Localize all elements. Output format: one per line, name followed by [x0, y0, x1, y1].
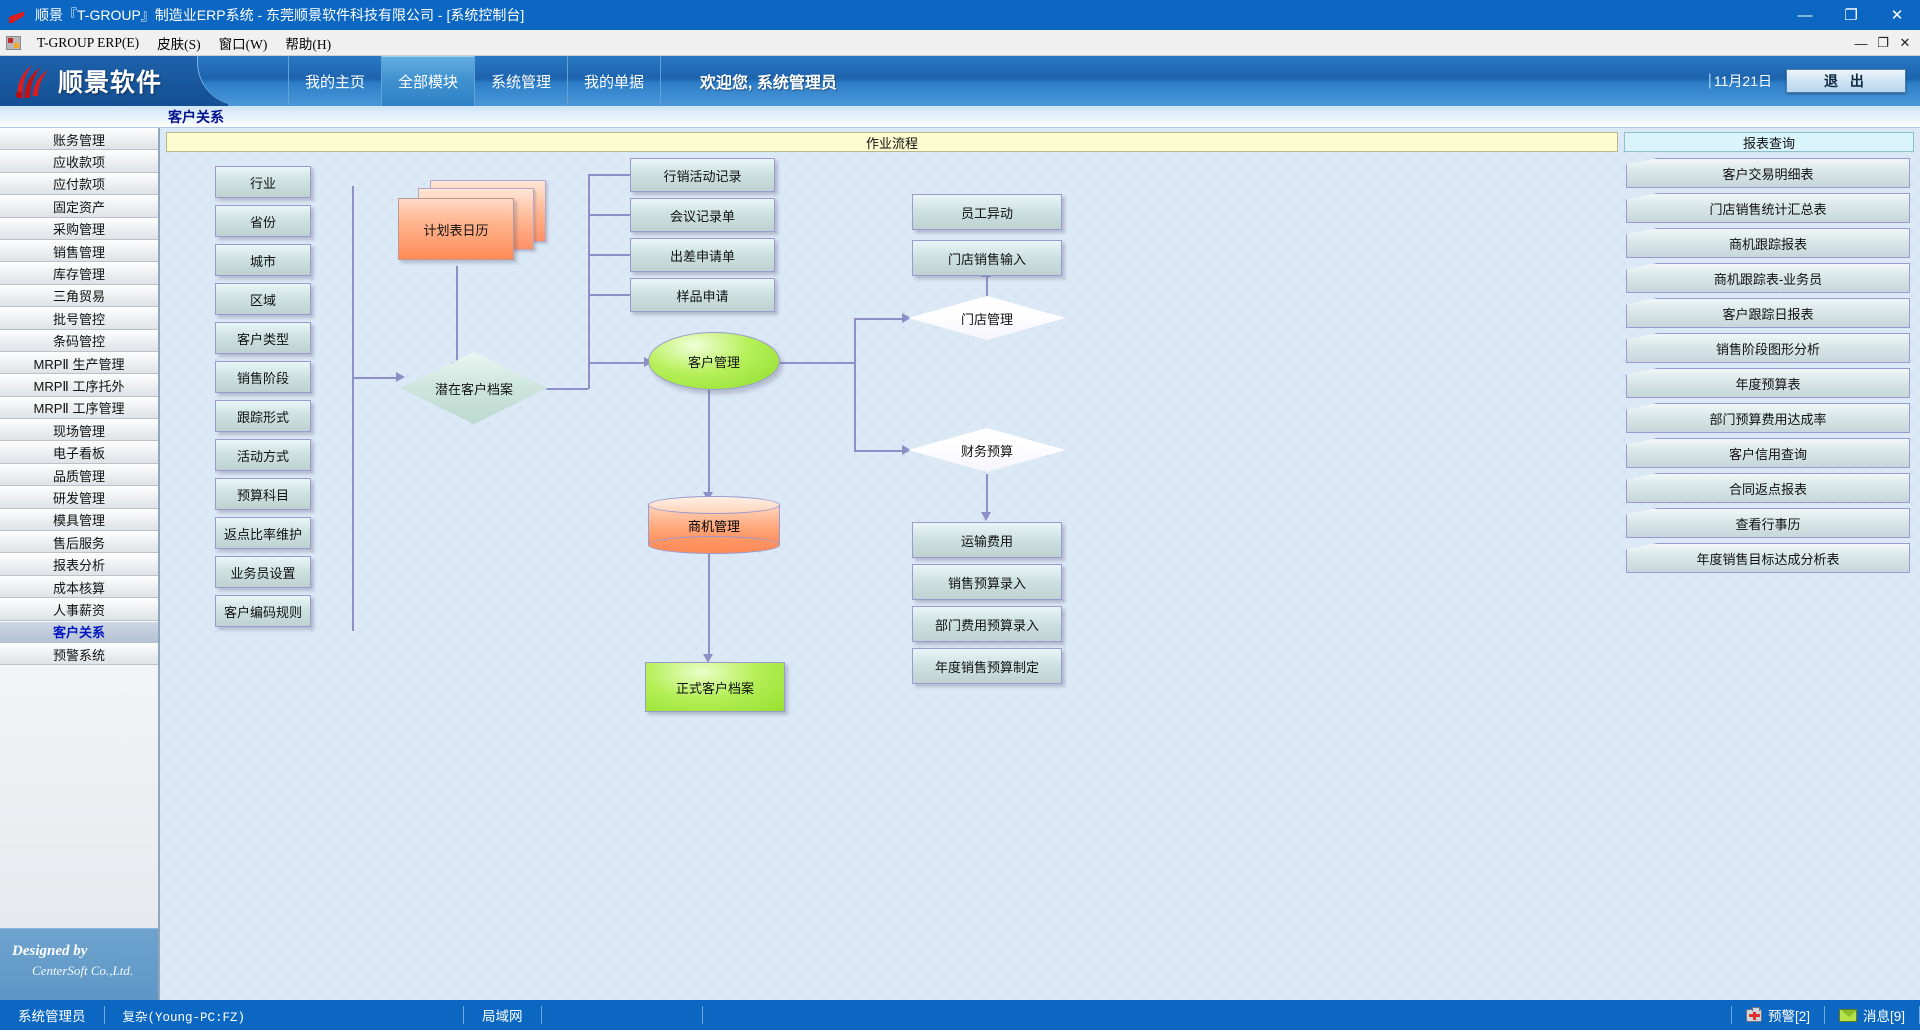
- sidebar-item-21[interactable]: 人事薪资: [0, 598, 158, 620]
- sidebar-item-19[interactable]: 报表分析: [0, 553, 158, 575]
- flow-node-meeting-record[interactable]: 会议记录单: [630, 198, 775, 232]
- flow-node-province[interactable]: 省份: [215, 205, 311, 237]
- flow-node-dept-expense-budget-entry[interactable]: 部门费用预算录入: [912, 606, 1062, 642]
- report-button-wrap-3: 商机跟踪表-业务员: [1626, 263, 1910, 293]
- tab-system-management[interactable]: 系统管理: [475, 56, 568, 106]
- company-label: CenterSoft Co.,Ltd.: [32, 963, 158, 979]
- brand-name: 顺景软件: [58, 63, 162, 99]
- sidebar-item-5[interactable]: 销售管理: [0, 240, 158, 262]
- flow-node-city[interactable]: 城市: [215, 244, 311, 276]
- page-title: 客户关系: [168, 107, 224, 127]
- flow-node-region[interactable]: 区域: [215, 283, 311, 315]
- sidebar-item-10[interactable]: MRPⅡ 生产管理: [0, 352, 158, 374]
- sidebar-item-6[interactable]: 库存管理: [0, 262, 158, 284]
- report-button-wrap-2: 商机跟踪报表: [1626, 228, 1910, 258]
- status-machine: 复杂(Young-PC:FZ): [105, 1006, 264, 1025]
- brand-swoosh-icon: [12, 62, 52, 100]
- status-divider-3: [541, 1006, 542, 1024]
- status-right-group: 预警[2] 消息[9]: [1731, 1005, 1920, 1025]
- potential-customer-label: 潜在客户档案: [400, 352, 548, 424]
- report-button-3[interactable]: 商机跟踪表-业务员: [1626, 263, 1910, 293]
- application-menu-bar: T-GROUP ERP(E) 皮肤(S) 窗口(W) 帮助(H) — ❐ ✕: [0, 30, 1920, 56]
- flow-node-business-trip-request[interactable]: 出差申请单: [630, 238, 775, 272]
- connector-potential-up: [588, 362, 590, 389]
- message-badge[interactable]: 消息[9]: [1825, 1005, 1919, 1025]
- tab-my-homepage[interactable]: 我的主页: [288, 56, 382, 106]
- flow-node-schedule-calendar[interactable]: 计划表日历: [398, 180, 546, 266]
- banner-report-query: 报表查询: [1624, 132, 1914, 152]
- flow-node-marketing-activity[interactable]: 行销活动记录: [630, 158, 775, 192]
- connector-customer-down: [708, 388, 710, 496]
- flow-node-sample-request[interactable]: 样品申请: [630, 278, 775, 312]
- flow-node-store-sales-input[interactable]: 门店销售输入: [912, 240, 1062, 276]
- finance-budget-label: 财务预算: [908, 428, 1066, 472]
- connector-to-customer: [588, 362, 648, 364]
- header-right-group: | 11月21日 退 出: [1708, 56, 1906, 106]
- menu-item-skin[interactable]: 皮肤(S): [148, 30, 210, 56]
- sidebar-list: 账务管理应收款项应付款项固定资产采购管理销售管理库存管理三角贸易批号管控条码管控…: [0, 128, 158, 665]
- tab-my-documents[interactable]: 我的单据: [568, 56, 661, 106]
- app-header: 顺景软件 我的主页 全部模块 系统管理 我的单据 欢迎您, 系统管理员 | 11…: [0, 56, 1920, 106]
- sidebar-item-16[interactable]: 研发管理: [0, 486, 158, 508]
- flow-node-customer-management[interactable]: 客户管理: [648, 332, 780, 390]
- sidebar-item-23[interactable]: 预警系统: [0, 643, 158, 665]
- report-button-4[interactable]: 客户跟踪日报表: [1626, 298, 1910, 328]
- arrow-finance-to-transport: [981, 512, 991, 521]
- sidebar-footer: Designed by CenterSoft Co.,Ltd.: [0, 928, 158, 1000]
- report-button-wrap-1: 门店销售统计汇总表: [1626, 193, 1910, 223]
- sidebar-item-8[interactable]: 批号管控: [0, 307, 158, 329]
- report-button-8[interactable]: 客户信用查询: [1626, 438, 1910, 468]
- flow-diagram: 行业 省份 城市 区域 客户类型 销售阶段 跟踪形式 活动方式 预算科目 返点比…: [160, 156, 1920, 1000]
- flow-node-store-management[interactable]: 门店管理: [908, 296, 1066, 340]
- window-controls: — ❐ ✕: [1782, 0, 1920, 30]
- status-user: 系统管理员: [0, 1005, 104, 1025]
- menu-item-help[interactable]: 帮助(H): [276, 30, 340, 56]
- sidebar-item-2[interactable]: 应付款项: [0, 173, 158, 195]
- report-button-wrap-9: 合同返点报表: [1626, 473, 1910, 503]
- sidebar-item-13[interactable]: 现场管理: [0, 419, 158, 441]
- main-nav-tabs: 我的主页 全部模块 系统管理 我的单据: [288, 56, 661, 106]
- minimize-icon[interactable]: —: [1782, 0, 1828, 30]
- sidebar-item-7[interactable]: 三角贸易: [0, 285, 158, 307]
- window-title: 顺景『T-GROUP』制造业ERP系统 - 东莞顺景软件科技有限公司 - [系统…: [35, 5, 524, 25]
- flow-node-customer-type[interactable]: 客户类型: [215, 322, 311, 354]
- connector-right-bus: [854, 318, 856, 450]
- connector-mid-4: [588, 294, 630, 296]
- sidebar-item-11[interactable]: MRPⅡ 工序托外: [0, 374, 158, 396]
- designed-by-label: Designed by: [12, 943, 158, 960]
- connector-mid-2: [588, 214, 630, 216]
- flow-node-industry[interactable]: 行业: [215, 166, 311, 198]
- report-button-2[interactable]: 商机跟踪报表: [1626, 228, 1910, 258]
- status-divider-4: [702, 1006, 703, 1024]
- report-button-wrap-11: 年度销售目标达成分析表: [1626, 543, 1910, 573]
- connector-to-finance: [854, 450, 906, 452]
- sidebar-item-22[interactable]: 客户关系: [0, 621, 158, 643]
- report-button-7[interactable]: 部门预算费用达成率: [1626, 403, 1910, 433]
- report-button-wrap-7: 部门预算费用达成率: [1626, 403, 1910, 433]
- sidebar-item-4[interactable]: 采购管理: [0, 218, 158, 240]
- app-logo-icon: [7, 5, 27, 25]
- flow-node-annual-sales-budget[interactable]: 年度销售预算制定: [912, 648, 1062, 684]
- flow-node-customer-code-rule[interactable]: 客户编码规则: [215, 595, 311, 627]
- status-network: 局域网: [464, 1005, 541, 1025]
- header-divider: |: [1708, 72, 1712, 90]
- flow-node-sales-budget-entry[interactable]: 销售预算录入: [912, 564, 1062, 600]
- mdi-close-icon[interactable]: ✕: [1894, 35, 1916, 51]
- sidebar-item-14[interactable]: 电子看板: [0, 441, 158, 463]
- connector-mid-3: [588, 254, 630, 256]
- flow-node-employee-change[interactable]: 员工异动: [912, 194, 1062, 230]
- flow-canvas: 作业流程 报表查询: [160, 128, 1920, 1000]
- menu-item-window[interactable]: 窗口(W): [210, 30, 277, 56]
- flow-node-rebate-ratio[interactable]: 返点比率维护: [215, 517, 311, 549]
- report-button-6[interactable]: 年度预算表: [1626, 368, 1910, 398]
- close-icon[interactable]: ✕: [1874, 0, 1920, 30]
- sidebar-item-0[interactable]: 账务管理: [0, 128, 158, 150]
- report-button-0[interactable]: 客户交易明细表: [1626, 158, 1910, 188]
- brand-logo: 顺景软件: [0, 56, 228, 106]
- report-button-wrap-0: 客户交易明细表: [1626, 158, 1910, 188]
- flow-node-formal-customer-archive[interactable]: 正式客户档案: [645, 662, 785, 712]
- connector-opportunity-down: [708, 554, 710, 658]
- module-sidebar: 账务管理应收款项应付款项固定资产采购管理销售管理库存管理三角贸易批号管控条码管控…: [0, 128, 160, 1000]
- sidebar-item-3[interactable]: 固定资产: [0, 195, 158, 217]
- connector-left-bus: [352, 186, 354, 631]
- body-area: 账务管理应收款项应付款项固定资产采购管理销售管理库存管理三角贸易批号管控条码管控…: [0, 128, 1920, 1000]
- connector-to-store: [854, 318, 906, 320]
- connector-calendar-down: [456, 266, 458, 366]
- report-button-wrap-6: 年度预算表: [1626, 368, 1910, 398]
- report-query-panel: 客户交易明细表门店销售统计汇总表商机跟踪报表商机跟踪表-业务员客户跟踪日报表销售…: [1626, 158, 1910, 578]
- report-button-9[interactable]: 合同返点报表: [1626, 473, 1910, 503]
- sidebar-filler: [0, 665, 158, 928]
- flow-node-transport-fee[interactable]: 运输费用: [912, 522, 1062, 558]
- alert-badge[interactable]: 预警[2]: [1732, 1005, 1824, 1025]
- flow-node-budget-subject[interactable]: 预算科目: [215, 478, 311, 510]
- status-bar: 系统管理员 复杂(Young-PC:FZ) 局域网 预警[2] 消息[9]: [0, 1000, 1920, 1030]
- alert-icon: [1746, 1009, 1762, 1022]
- flow-node-activity-type[interactable]: 活动方式: [215, 439, 311, 471]
- sidebar-item-17[interactable]: 模具管理: [0, 509, 158, 531]
- sidebar-item-15[interactable]: 品质管理: [0, 464, 158, 486]
- alert-label: 预警[2]: [1768, 1005, 1810, 1025]
- connector-customer-right: [780, 362, 854, 364]
- report-button-1[interactable]: 门店销售统计汇总表: [1626, 193, 1910, 223]
- welcome-message: 欢迎您, 系统管理员: [700, 56, 837, 106]
- banner-workflow: 作业流程: [166, 132, 1618, 152]
- logout-button[interactable]: 退 出: [1786, 69, 1906, 93]
- mdi-minimize-icon[interactable]: —: [1850, 36, 1872, 51]
- connector-left-to-diamond: [352, 377, 400, 379]
- flow-node-tracking-type[interactable]: 跟踪形式: [215, 400, 311, 432]
- calendar-card-front[interactable]: 计划表日历: [398, 198, 514, 260]
- sidebar-item-1[interactable]: 应收款项: [0, 150, 158, 172]
- menu-item-erp[interactable]: T-GROUP ERP(E): [28, 32, 148, 54]
- sidebar-item-12[interactable]: MRPⅡ 工序管理: [0, 397, 158, 419]
- mail-icon: [1839, 1009, 1857, 1022]
- message-label: 消息[9]: [1863, 1005, 1905, 1025]
- connector-mid-1: [588, 174, 630, 176]
- tab-all-modules[interactable]: 全部模块: [382, 56, 475, 106]
- mdi-restore-icon[interactable]: ❐: [1872, 35, 1894, 51]
- report-button-wrap-5: 销售阶段图形分析: [1626, 333, 1910, 363]
- current-date: 11月21日: [1714, 71, 1772, 91]
- sidebar-item-20[interactable]: 成本核算: [0, 576, 158, 598]
- sidebar-item-9[interactable]: 条码管控: [0, 330, 158, 352]
- report-button-11[interactable]: 年度销售目标达成分析表: [1626, 543, 1910, 573]
- opportunity-label: 商机管理: [648, 496, 780, 554]
- mdi-window-controls: — ❐ ✕: [1850, 30, 1916, 56]
- maximize-icon[interactable]: ❐: [1828, 0, 1874, 30]
- mdi-window-icon: [6, 36, 21, 50]
- module-title-strip: 客户关系: [0, 106, 1920, 128]
- section-banners: 作业流程 报表查询: [160, 128, 1920, 152]
- store-management-label: 门店管理: [908, 296, 1066, 340]
- flow-node-salesperson-setup[interactable]: 业务员设置: [215, 556, 311, 588]
- flow-node-opportunity-management[interactable]: 商机管理: [648, 496, 780, 554]
- report-button-wrap-4: 客户跟踪日报表: [1626, 298, 1910, 328]
- report-button-5[interactable]: 销售阶段图形分析: [1626, 333, 1910, 363]
- window-title-bar: 顺景『T-GROUP』制造业ERP系统 - 东莞顺景软件科技有限公司 - [系统…: [0, 0, 1920, 30]
- report-button-wrap-8: 客户信用查询: [1626, 438, 1910, 468]
- report-button-wrap-10: 查看行事历: [1626, 508, 1910, 538]
- flow-node-potential-customer[interactable]: 潜在客户档案: [400, 352, 548, 424]
- connector-mid-bus: [588, 174, 590, 364]
- flow-node-finance-budget[interactable]: 财务预算: [908, 428, 1066, 472]
- report-button-10[interactable]: 查看行事历: [1626, 508, 1910, 538]
- connector-potential-right: [546, 388, 588, 390]
- connector-finance-down: [986, 474, 988, 516]
- flow-node-sales-stage[interactable]: 销售阶段: [215, 361, 311, 393]
- sidebar-item-18[interactable]: 售后服务: [0, 531, 158, 553]
